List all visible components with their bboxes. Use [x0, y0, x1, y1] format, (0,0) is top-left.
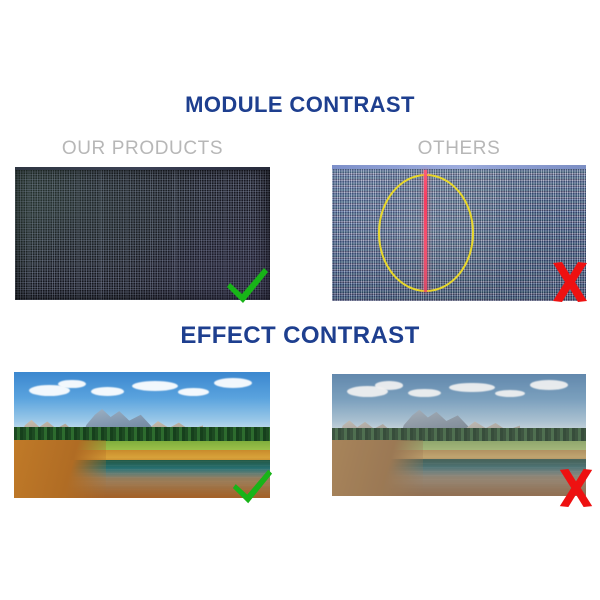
module-contrast-title: MODULE CONTRAST — [0, 92, 600, 118]
x-icon-module — [548, 261, 592, 303]
defect-red-line — [424, 170, 427, 292]
cloud — [178, 388, 209, 396]
landscape-photo-faded — [332, 374, 586, 496]
check-icon-module — [224, 266, 270, 306]
cloud — [132, 381, 178, 391]
cloud — [408, 389, 441, 398]
our-products-label: OUR PRODUCTS — [15, 138, 270, 160]
cloud — [530, 380, 568, 390]
effect-contrast-title: EFFECT CONTRAST — [0, 322, 600, 350]
cloud — [91, 387, 124, 396]
check-icon-effect — [230, 467, 274, 507]
cloud — [58, 380, 86, 389]
effect-photo-others — [332, 374, 586, 496]
cloud — [375, 381, 403, 390]
others-label: OTHERS — [332, 138, 586, 160]
cloud — [449, 383, 495, 393]
foreground-bank-left — [332, 440, 423, 496]
foreground-bank-left — [14, 440, 106, 498]
comparison-poster: MODULE CONTRAST OUR PRODUCTS OTHERS EFFE… — [0, 0, 600, 600]
x-icon-effect — [555, 468, 597, 508]
